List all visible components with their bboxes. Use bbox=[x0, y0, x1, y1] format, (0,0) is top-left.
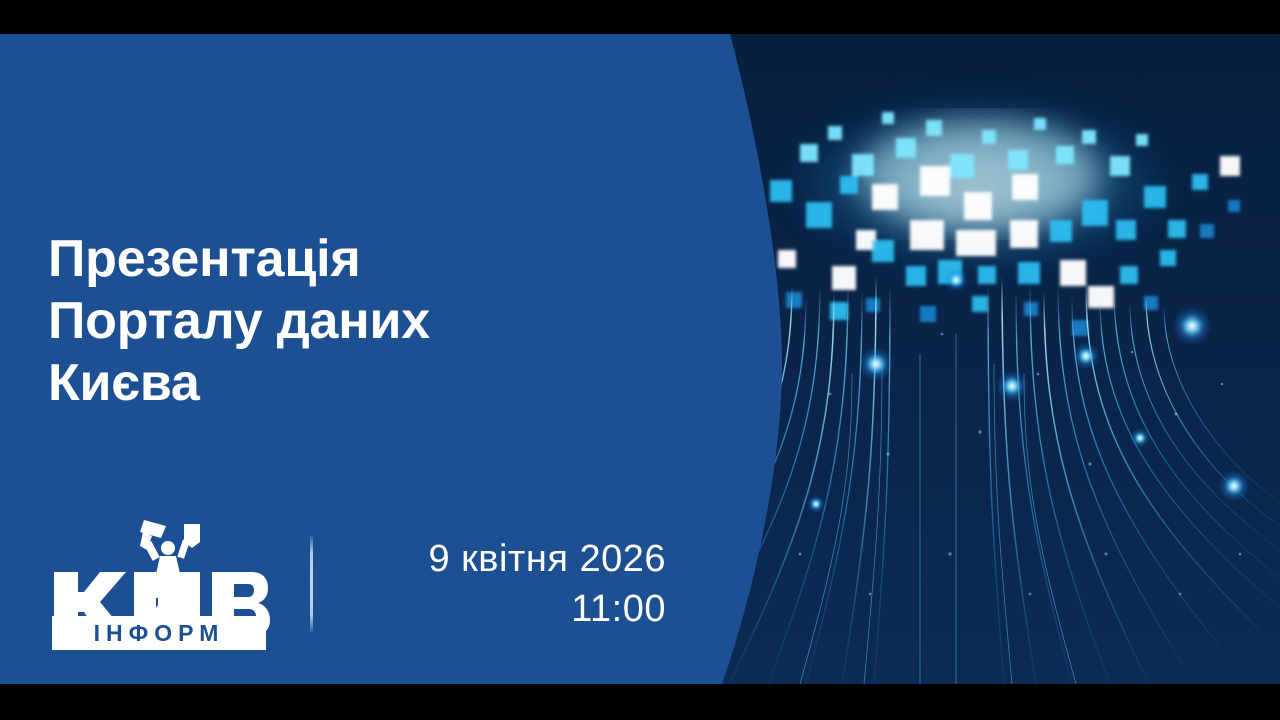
title-line-3: Києва bbox=[48, 352, 688, 414]
letterbox-bar-top bbox=[0, 0, 1280, 34]
event-time: 11:00 bbox=[348, 584, 666, 634]
page-title: Презентація Порталу даних Києва bbox=[48, 228, 688, 414]
slide-stage: Презентація Порталу даних Києва bbox=[0, 0, 1280, 720]
event-date: 9 квітня 2026 bbox=[348, 534, 666, 584]
logo-sub-mark-band: ІНФОРМ bbox=[52, 616, 266, 650]
slide-footer: ІНФОРМ 9 квітня 2026 11:00 bbox=[48, 504, 688, 674]
slide-content: Презентація Порталу даних Києва bbox=[0, 34, 760, 684]
title-line-2: Порталу даних bbox=[48, 290, 688, 352]
footer-divider bbox=[310, 536, 313, 632]
title-line-1: Презентація bbox=[48, 228, 688, 290]
letterbox-bar-bottom bbox=[0, 684, 1280, 720]
logo-sub-mark: ІНФОРМ bbox=[94, 620, 225, 647]
event-datetime: 9 квітня 2026 11:00 bbox=[348, 534, 666, 634]
slide-canvas: Презентація Порталу даних Києва bbox=[0, 34, 1280, 684]
kyiv-inform-logo: ІНФОРМ bbox=[48, 512, 270, 652]
